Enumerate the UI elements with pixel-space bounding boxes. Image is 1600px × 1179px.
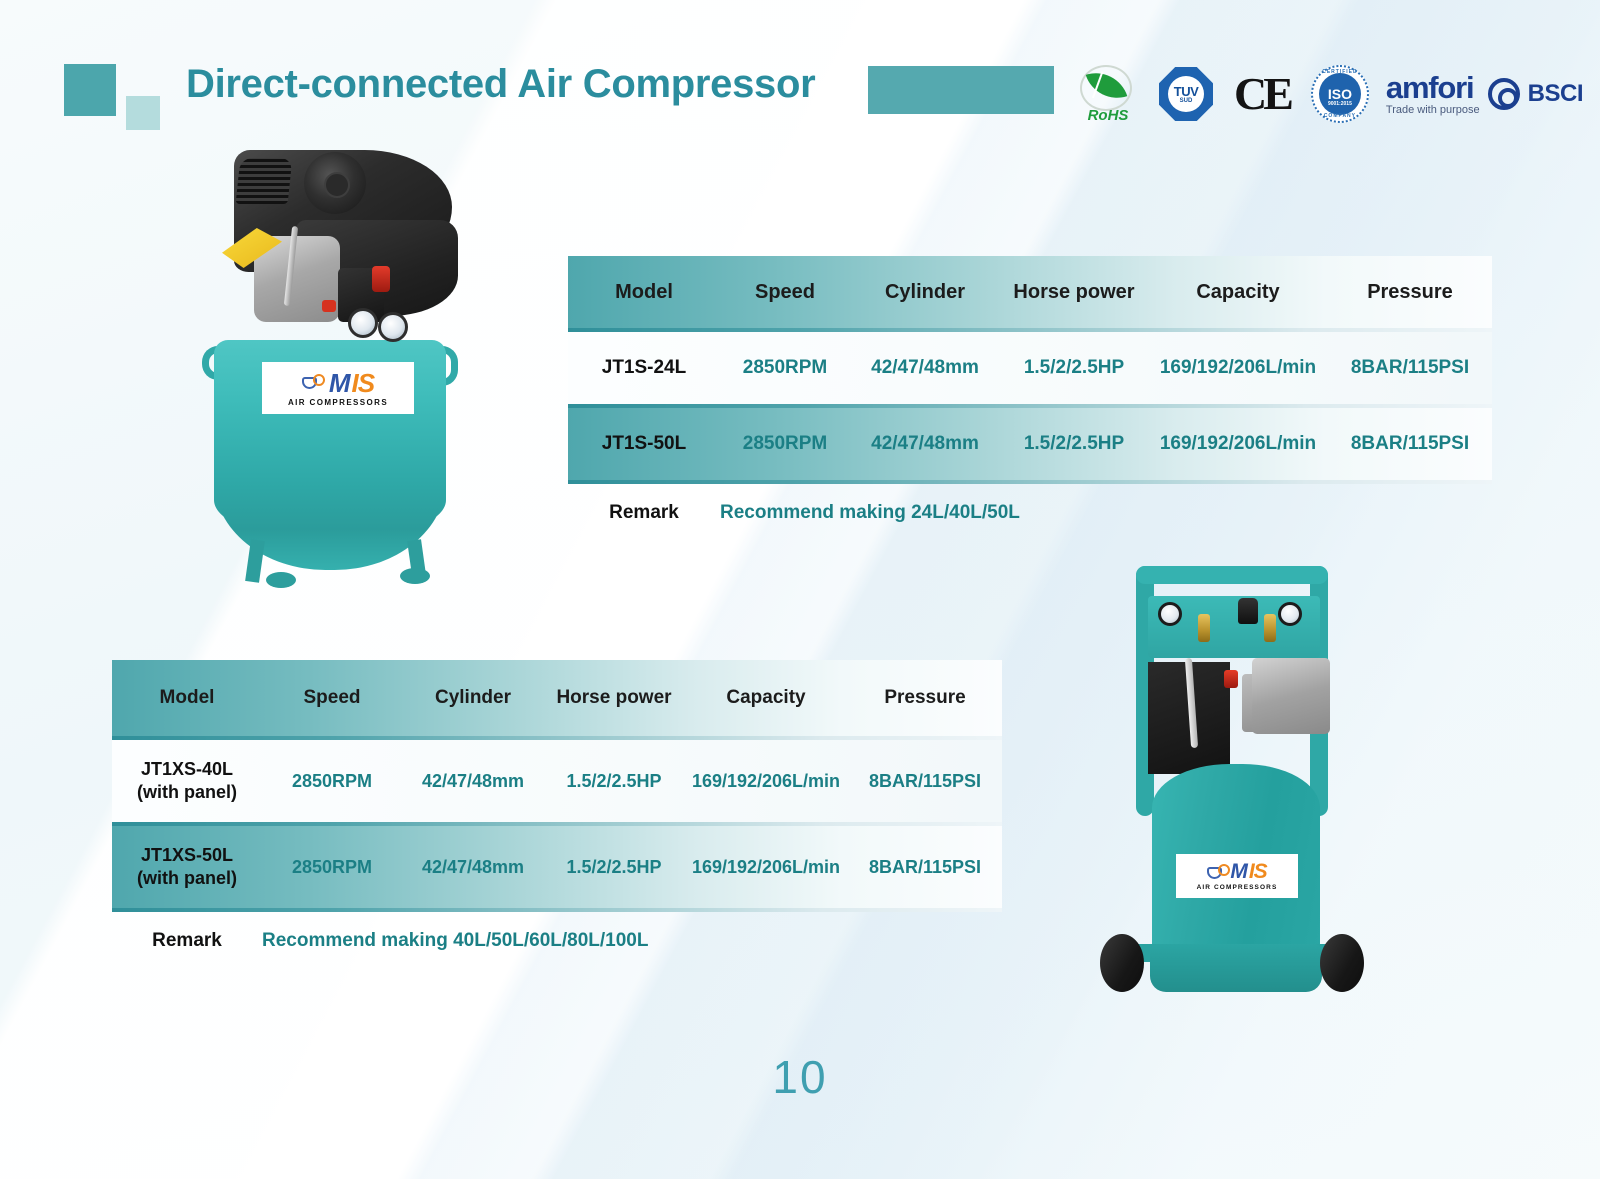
pressure-gauge-2 xyxy=(378,312,408,342)
brand-label-plate: M IS AIR COMPRESSORS xyxy=(1176,854,1298,898)
cell-capacity: 169/192/206L/min xyxy=(1148,357,1328,379)
tank-foot-pad-left xyxy=(266,572,296,588)
tuv-sublabel: SUD xyxy=(1180,98,1193,104)
cell-model-name: JT1XS-40L xyxy=(141,759,233,779)
vertical-tank-air-compressor-photo: M IS AIR COMPRESSORS xyxy=(1092,558,1374,1028)
cell-horse-power: 1.5/2/2.5HP xyxy=(544,857,684,878)
iso-bottom-label: COMPANY xyxy=(1313,113,1367,119)
black-regulator-knob xyxy=(1238,598,1258,624)
cell-cylinder: 42/47/48mm xyxy=(402,771,544,792)
roll-cage-top-handle xyxy=(1136,566,1328,584)
brass-outlet-1 xyxy=(1198,614,1210,642)
cell-horse-power: 1.5/2/2.5HP xyxy=(1000,357,1148,379)
cell-speed: 2850RPM xyxy=(262,771,402,792)
brand-subtitle: AIR COMPRESSORS xyxy=(1197,884,1278,891)
amfori-bsci-icon: amfori Trade with purpose BSCI xyxy=(1386,72,1583,116)
brand-label-plate: M IS AIR COMPRESSORS xyxy=(262,362,414,414)
table-row: JT1XS-50L (with panel) 2850RPM 42/47/48m… xyxy=(112,826,1002,908)
remark-text: Recommend making 40L/50L/60L/80L/100L xyxy=(262,930,649,952)
cell-cylinder: 42/47/48mm xyxy=(850,357,1000,379)
brand-letter-m: M xyxy=(1230,861,1246,882)
amfori-label: amfori xyxy=(1386,72,1480,103)
brand-letters-is: IS xyxy=(352,370,375,396)
column-header-capacity: Capacity xyxy=(1148,281,1328,304)
column-header-pressure: Pressure xyxy=(848,687,1002,709)
iso-label: ISO xyxy=(1328,87,1352,102)
cell-speed: 2850RPM xyxy=(720,433,850,455)
brand-letters-is: IS xyxy=(1249,861,1267,882)
certification-logos: RoHS TUV SUD CE CERTIFIED ISO 9001:2015 … xyxy=(1074,64,1583,124)
accent-square-small xyxy=(126,96,160,130)
column-header-model: Model xyxy=(112,687,262,709)
table-header-row: Model Speed Cylinder Horse power Capacit… xyxy=(568,256,1492,328)
cell-model: JT1XS-50L (with panel) xyxy=(112,844,262,890)
pressure-gauge-1 xyxy=(1158,602,1182,626)
cell-speed: 2850RPM xyxy=(720,357,850,379)
column-header-cylinder: Cylinder xyxy=(402,687,544,709)
table-row: JT1XS-40L (with panel) 2850RPM 42/47/48m… xyxy=(112,740,1002,822)
amfori-spiral-icon xyxy=(1488,78,1520,110)
cell-horse-power: 1.5/2/2.5HP xyxy=(544,771,684,792)
column-header-horse-power: Horse power xyxy=(544,687,684,709)
column-header-speed: Speed xyxy=(262,687,402,709)
page-title: Direct-connected Air Compressor xyxy=(186,62,815,107)
page-header: Direct-connected Air Compressor RoHS TUV… xyxy=(0,0,1600,150)
cell-speed: 2850RPM xyxy=(262,857,402,878)
motor-vent-grille xyxy=(236,158,293,204)
bsci-label: BSCI xyxy=(1528,80,1583,108)
specification-table-jt1s: Model Speed Cylinder Horse power Capacit… xyxy=(568,256,1492,542)
specification-table-jt1xs: Model Speed Cylinder Horse power Capacit… xyxy=(112,660,1002,970)
table-row: JT1S-24L 2850RPM 42/47/48mm 1.5/2/2.5HP … xyxy=(568,332,1492,404)
cell-model: JT1S-50L xyxy=(568,433,720,455)
remark-text: Recommend making 24L/40L/50L xyxy=(720,502,1020,524)
red-valve xyxy=(322,300,336,312)
tank-base xyxy=(1150,944,1322,992)
mis-compressor-icon xyxy=(1207,864,1227,879)
ce-icon: CE xyxy=(1230,71,1294,117)
title-accent-bar xyxy=(868,66,1054,114)
rohs-label: RoHS xyxy=(1076,107,1140,124)
remark-row: Remark Recommend making 40L/50L/60L/80L/… xyxy=(112,912,1002,970)
tank-foot-pad-right xyxy=(400,568,430,584)
iso-icon: CERTIFIED ISO 9001:2015 COMPANY xyxy=(1311,65,1369,123)
cell-model-note: (with panel) xyxy=(112,781,262,804)
cooling-fan-cover xyxy=(304,152,366,214)
cell-pressure: 8BAR/115PSI xyxy=(848,771,1002,792)
table-header-row: Model Speed Cylinder Horse power Capacit… xyxy=(112,660,1002,736)
cell-model: JT1XS-40L (with panel) xyxy=(112,758,262,804)
cell-capacity: 169/192/206L/min xyxy=(684,771,848,792)
red-valve xyxy=(1224,670,1238,688)
page-number: 10 xyxy=(0,1050,1600,1104)
iso-top-label: CERTIFIED xyxy=(1313,69,1367,75)
brand-subtitle: AIR COMPRESSORS xyxy=(288,398,388,407)
cell-pressure: 8BAR/115PSI xyxy=(1328,357,1492,379)
rohs-icon: RoHS xyxy=(1074,65,1142,123)
tank-leg-left xyxy=(245,539,265,583)
cell-cylinder: 42/47/48mm xyxy=(850,433,1000,455)
accent-square-large xyxy=(64,64,116,116)
brand-letter-m: M xyxy=(329,370,349,396)
wheel-right xyxy=(1320,934,1364,992)
cell-horse-power: 1.5/2/2.5HP xyxy=(1000,433,1148,455)
cell-capacity: 169/192/206L/min xyxy=(1148,433,1328,455)
tuv-label: TUV xyxy=(1174,85,1199,98)
cell-model: JT1S-24L xyxy=(568,357,720,379)
mis-compressor-icon xyxy=(302,374,326,392)
cell-model-note: (with panel) xyxy=(112,867,262,890)
remark-row: Remark Recommend making 24L/40L/50L xyxy=(568,484,1492,542)
column-header-capacity: Capacity xyxy=(684,687,848,709)
table-row: JT1S-50L 2850RPM 42/47/48mm 1.5/2/2.5HP … xyxy=(568,408,1492,480)
remark-label: Remark xyxy=(112,930,262,952)
column-header-pressure: Pressure xyxy=(1328,281,1492,304)
cell-pressure: 8BAR/115PSI xyxy=(848,857,1002,878)
cell-cylinder: 42/47/48mm xyxy=(402,857,544,878)
iso-standard: 9001:2015 xyxy=(1328,102,1352,107)
pressure-gauge-1 xyxy=(348,308,378,338)
column-header-speed: Speed xyxy=(720,281,850,304)
brass-outlet-2 xyxy=(1264,614,1276,642)
wheel-left xyxy=(1100,934,1144,992)
pump-head xyxy=(1252,658,1330,734)
column-header-horse-power: Horse power xyxy=(1000,281,1148,304)
red-regulator-knob xyxy=(372,266,390,292)
pressure-gauge-2 xyxy=(1278,602,1302,626)
column-header-model: Model xyxy=(568,281,720,304)
cell-pressure: 8BAR/115PSI xyxy=(1328,433,1492,455)
cell-model-name: JT1XS-50L xyxy=(141,845,233,865)
cell-capacity: 169/192/206L/min xyxy=(684,857,848,878)
horizontal-tank-air-compressor-photo: M IS AIR COMPRESSORS xyxy=(196,140,486,620)
remark-label: Remark xyxy=(568,502,720,524)
column-header-cylinder: Cylinder xyxy=(850,281,1000,304)
amfori-tagline: Trade with purpose xyxy=(1386,105,1480,116)
tuv-icon: TUV SUD xyxy=(1159,67,1213,121)
